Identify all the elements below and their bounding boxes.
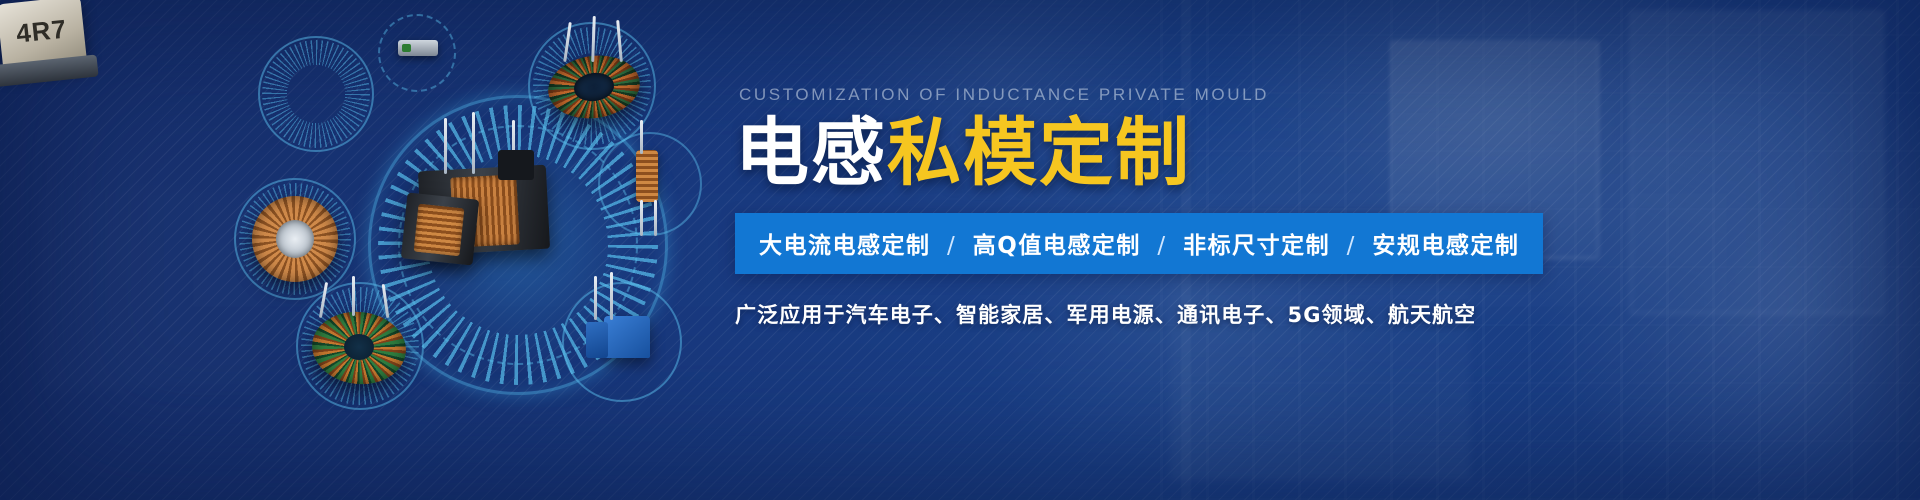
title-white-part: 电感 bbox=[735, 110, 887, 196]
blue-inductor-lead-1 bbox=[594, 276, 597, 320]
rod-choke-lead-bottom-1 bbox=[640, 200, 643, 236]
banner-copy: CUSTOMIZATION OF INDUCTANCE PRIVATE MOUL… bbox=[735, 86, 1875, 329]
feature-item-3: 安规电感定制 bbox=[1372, 233, 1519, 259]
rod-choke-lead-bottom-2 bbox=[654, 200, 657, 236]
green-toroid-inner bbox=[344, 334, 374, 360]
feature-item-1: 高Q值电感定制 bbox=[973, 233, 1141, 259]
english-subtitle: CUSTOMIZATION OF INDUCTANCE PRIVATE MOUL… bbox=[739, 86, 1875, 103]
product-collage bbox=[0, 0, 720, 500]
smd-power-inductor-4r7 bbox=[0, 0, 87, 74]
blue-radial-inductor-side bbox=[586, 322, 608, 358]
rod-choke-lead-top bbox=[640, 120, 643, 154]
page-title: 电感私模定制 bbox=[735, 115, 1875, 193]
blue-inductor-lead-2 bbox=[610, 272, 613, 320]
bobbin-lead-2 bbox=[472, 112, 475, 174]
ring-core-inner bbox=[276, 220, 314, 258]
feature-item-0: 大电流电感定制 bbox=[759, 233, 931, 259]
tick-ring-smd-4r7 bbox=[262, 40, 370, 148]
bobbin-copper-winding-b bbox=[414, 204, 465, 257]
bobbin-lead-1 bbox=[444, 118, 447, 174]
feature-separator-0: / bbox=[940, 233, 963, 259]
smd-chip-inductor bbox=[398, 40, 438, 56]
title-gold-part: 私模定制 bbox=[887, 110, 1191, 196]
application-tagline: 广泛应用于汽车电子、智能家居、军用电源、通讯电子、5G领域、航天航空 bbox=[735, 299, 1875, 329]
promo-banner: CUSTOMIZATION OF INDUCTANCE PRIVATE MOUL… bbox=[0, 0, 1920, 500]
feature-item-2: 非标尺寸定制 bbox=[1183, 233, 1330, 259]
axial-rod-choke bbox=[636, 150, 658, 202]
blue-radial-inductor bbox=[604, 316, 650, 358]
feature-separator-1: / bbox=[1150, 233, 1173, 259]
feature-bar: 大电流电感定制 / 高Q值电感定制 / 非标尺寸定制 / 安规电感定制 bbox=[735, 213, 1543, 274]
bobbin-terminal-block bbox=[498, 150, 534, 180]
green-toroid-lead-2 bbox=[352, 276, 355, 316]
feature-separator-2: / bbox=[1340, 233, 1363, 259]
